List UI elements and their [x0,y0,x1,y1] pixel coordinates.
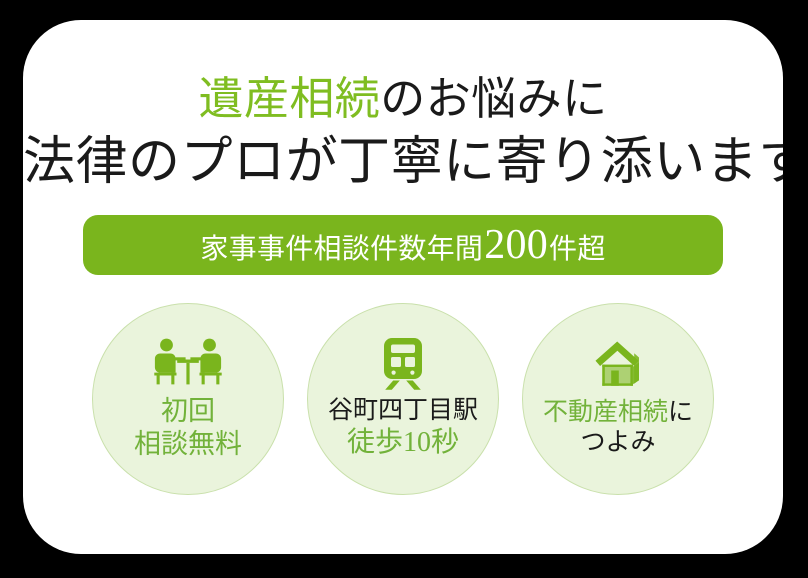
feature-label-station-access: 谷町四丁目駅 徒歩10秒 [328,396,478,461]
promo-card: 遺産相続のお悩みに 法律のプロが丁寧に寄り添います 家事事件相談件数年間200件… [23,20,783,554]
feature-label-real-estate: 不動産相続に つよみ [543,398,693,459]
feature-label-tail: に [668,399,693,426]
feature-label-line-2: 徒歩10秒 [328,426,478,460]
feature-circle-real-estate: 不動産相続に つよみ [522,303,714,495]
headline-line-1: 遺産相続のお悩みに [23,73,783,125]
feature-label-accent: 不動産相続 [543,399,668,426]
feature-circle-station-access: 谷町四丁目駅 徒歩10秒 [307,303,499,495]
house-icon [589,340,647,392]
feature-circle-group: 初回 相談無料 [23,303,783,503]
stat-banner-suffix: 件超 [549,235,606,265]
consultation-meeting-icon [152,337,224,389]
screenshot-stage: 遺産相続のお悩みに 法律のプロが丁寧に寄り添います 家事事件相談件数年間200件… [0,0,808,578]
feature-circle-first-consultation: 初回 相談無料 [92,303,284,495]
stat-banner-text: 家事事件相談件数年間200件超 [200,224,605,266]
headline-line-1-rest: のお悩みに [380,74,607,124]
stat-banner-number: 200 [483,224,549,266]
headline-accent-text: 遺産相続 [198,74,380,124]
train-icon [380,338,426,390]
stat-banner-prefix: 家事事件相談件数年間 [200,235,483,265]
stat-banner: 家事事件相談件数年間200件超 [83,215,723,275]
feature-label-first-consultation: 初回 相談無料 [134,395,242,461]
feature-label-line-1: 谷町四丁目駅 [328,396,478,427]
feature-label-line-1: 初回 [134,395,242,428]
feature-label-line-1: 不動産相続に [543,398,693,429]
headline-line-2: 法律のプロが丁寧に寄り添います [23,133,783,193]
feature-label-line-2: つよみ [543,428,693,459]
feature-label-line-2: 相談無料 [134,428,242,461]
